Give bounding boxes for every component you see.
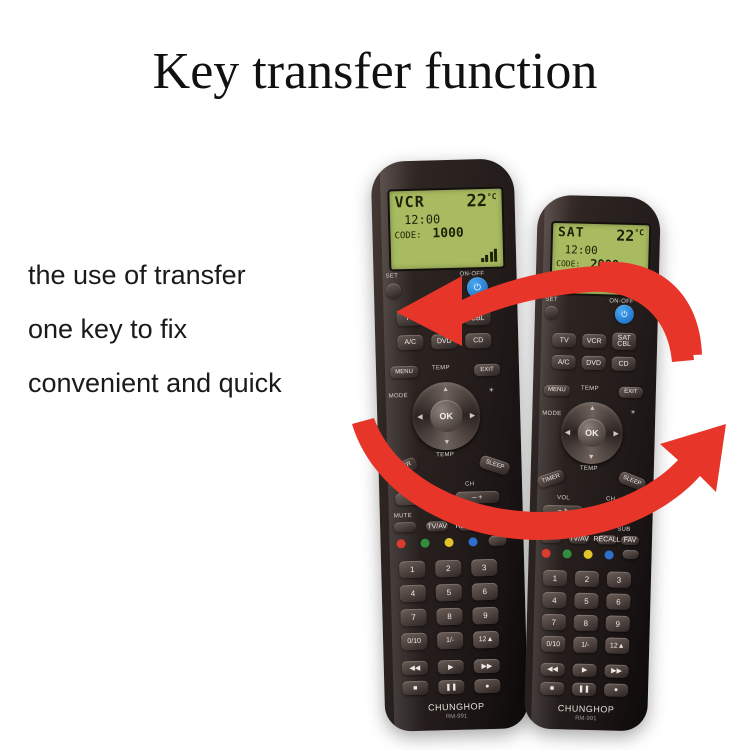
key-1-left[interactable]: 1 — [399, 561, 425, 579]
key-7-left[interactable]: 7 — [400, 609, 426, 627]
color-chip-red-right[interactable] — [542, 549, 551, 558]
dial-up-arrow-icon-right: ▲ — [589, 405, 596, 412]
transport-rewind-right[interactable]: ◀◀ — [540, 663, 564, 677]
key-1-right[interactable]: 1 — [543, 570, 567, 587]
lcd-mode-left: VCR — [394, 193, 425, 212]
dial-right-arrow-icon-right: ▶ — [613, 430, 619, 438]
model-label-right: RM-991 — [524, 714, 647, 723]
lcd-temperature-left: 22°C — [466, 191, 497, 212]
source-button-cd-right[interactable]: CD — [611, 356, 635, 371]
key-4-right[interactable]: 4 — [542, 592, 566, 609]
vol-label-right: VOL — [557, 495, 570, 501]
color-chip-blue-left[interactable] — [468, 537, 477, 546]
key-5-right[interactable]: 5 — [574, 593, 598, 610]
mute-button-right[interactable] — [541, 534, 561, 544]
mute-label-right: MUTE — [541, 525, 559, 531]
transport-play-left[interactable]: ▶ — [438, 660, 464, 675]
page-title: Key transfer function — [0, 42, 750, 101]
lcd-display-right: SAT 22°C 12:00 CODE: 2000 — [549, 221, 651, 298]
volume-rocker-right[interactable]: – + — [543, 505, 583, 517]
source-button-tv-right[interactable]: TV — [552, 333, 576, 348]
sub-label-right: SUB — [617, 527, 630, 533]
mute-button-left[interactable] — [394, 522, 416, 533]
source-button-sat-cbl-right[interactable]: SAT CBL — [612, 332, 636, 350]
navigation-dial-left[interactable]: OK ▲ ▼ ◀ ▶ — [411, 381, 481, 451]
color-chip-green-left[interactable] — [420, 539, 429, 548]
brightness-icon-right: ☀ — [630, 409, 636, 416]
volume-rocker-left[interactable]: – + — [395, 492, 439, 505]
channel-rocker-left[interactable]: – + — [455, 491, 499, 504]
key-8-left[interactable]: 8 — [436, 608, 462, 626]
key-9-left[interactable]: 9 — [472, 607, 498, 625]
mode-label-left: MODE — [389, 393, 408, 400]
lcd-code-label-left: CODE: — [394, 231, 421, 242]
key-3-left[interactable]: 3 — [471, 559, 497, 577]
lcd-temperature-right: 22°C — [616, 227, 644, 246]
key-2-left[interactable]: 2 — [435, 560, 461, 578]
ch-label-right: CH — [606, 496, 615, 502]
dial-right-arrow-icon-left: ▶ — [470, 411, 476, 419]
power-button-left[interactable]: ⏻ — [467, 277, 489, 299]
key-8-right[interactable]: 8 — [574, 615, 598, 632]
brightness-icon-left: ☀ — [488, 387, 494, 394]
set-button-right[interactable] — [545, 306, 558, 319]
set-button-left[interactable] — [386, 283, 401, 298]
key-0-10-right[interactable]: 0/10 — [541, 636, 565, 653]
transport-stop-left[interactable]: ■ — [402, 681, 428, 696]
remote-control-right: SAT 22°C 12:00 CODE: 2000 SET ON-OFF ⏻ T… — [524, 194, 661, 731]
extra-button-tvav-left[interactable]: TV/AV — [426, 521, 448, 532]
source-button-cd-left[interactable]: CD — [465, 333, 491, 349]
source-button-vcr-left[interactable]: VCR — [430, 310, 456, 326]
transport-pause-left[interactable]: ❚❚ — [438, 680, 464, 695]
lcd-code-value-left: 1000 — [432, 226, 464, 242]
extra-button-tvav-right[interactable]: TV/AV — [569, 534, 589, 544]
transport-fastforward-right[interactable]: ▶▶ — [604, 664, 628, 678]
source-button-dvd-right[interactable]: DVD — [581, 356, 605, 371]
source-button-vcr-right[interactable]: VCR — [582, 334, 606, 349]
temp-label-bottom-right: TEMP — [580, 466, 598, 472]
key-0-10-left[interactable]: 0/10 — [401, 633, 427, 651]
lcd-code-label-right: CODE: — [556, 259, 580, 269]
transport-pause-right[interactable]: ❚❚ — [572, 683, 596, 697]
exit-button-right[interactable]: EXIT — [619, 387, 643, 399]
temp-label-top-left: TEMP — [432, 365, 450, 371]
aux-button-right[interactable] — [623, 550, 639, 559]
caption-line-2: one key to fix — [28, 302, 358, 356]
transport-fastforward-left[interactable]: ▶▶ — [474, 659, 500, 674]
key-5-left[interactable]: 5 — [436, 584, 462, 602]
key-2-right[interactable]: 2 — [575, 571, 599, 588]
dial-left-arrow-icon-left: ◀ — [417, 413, 423, 421]
key-4-left[interactable]: 4 — [400, 585, 426, 603]
caption-line-1: the use of transfer — [28, 248, 358, 302]
key-1-dash-right[interactable]: 1/- — [573, 637, 597, 654]
source-button-tv-left[interactable]: TV — [396, 311, 422, 327]
mute-label-left: MUTE — [394, 513, 412, 519]
source-button-ac-right[interactable]: A/C — [551, 355, 575, 370]
key-7-right[interactable]: 7 — [542, 614, 566, 631]
color-chip-yellow-left[interactable] — [444, 538, 453, 547]
dial-down-arrow-icon-left: ▼ — [443, 439, 450, 446]
key-6-left[interactable]: 6 — [472, 583, 498, 601]
ch-label-left: CH — [465, 481, 474, 487]
caption-line-3: convenient and quick — [28, 356, 358, 410]
dial-down-arrow-icon-right: ▼ — [588, 454, 595, 461]
aux-button-left[interactable] — [488, 536, 506, 546]
lcd-signal-bars-left — [480, 249, 497, 262]
key-12-up-left[interactable]: 12▲ — [473, 631, 499, 649]
sleep-button-right[interactable]: SLEEP — [617, 471, 647, 492]
key-3-right[interactable]: 3 — [607, 571, 631, 588]
color-chip-red-left[interactable] — [396, 539, 405, 548]
menu-button-right[interactable]: MENU — [544, 385, 570, 397]
exit-button-left[interactable]: EXIT — [474, 364, 500, 377]
brand-label-right: CHUNGHOP — [524, 702, 647, 715]
extra-button-fav-right[interactable]: FAV — [621, 536, 639, 545]
color-chip-yellow-right[interactable] — [583, 550, 592, 559]
source-button-ac-left[interactable]: A/C — [397, 335, 423, 351]
color-chip-blue-right[interactable] — [604, 550, 613, 559]
lcd-signal-bars-right — [625, 277, 642, 290]
lcd-clock-right: 12:00 — [564, 243, 597, 257]
key-12-up-right[interactable]: 12▲ — [605, 637, 629, 654]
color-chip-green-right[interactable] — [562, 549, 571, 558]
ok-button-left[interactable]: OK — [430, 400, 462, 432]
key-6-right[interactable]: 6 — [606, 593, 630, 610]
navigation-dial-right[interactable]: OK ▲ ▼ ◀ ▶ — [560, 401, 624, 465]
dial-up-arrow-icon-left: ▲ — [442, 386, 449, 393]
dial-left-arrow-icon-right: ◀ — [565, 428, 571, 436]
onoff-label-left: ON-OFF — [459, 271, 484, 278]
set-label-left: SET — [385, 273, 398, 279]
source-button-dvd-left[interactable]: DVD — [431, 334, 457, 350]
key-9-right[interactable]: 9 — [606, 615, 630, 632]
source-button-sat-cbl-left[interactable]: SAT CBL — [464, 307, 490, 326]
model-label-left: RM-991 — [385, 712, 528, 722]
lcd-mode-right: SAT — [558, 225, 585, 241]
transport-rewind-left[interactable]: ◀◀ — [402, 661, 428, 676]
extra-button-recall-right[interactable]: RECALL — [597, 535, 617, 545]
menu-button-left[interactable]: MENU — [390, 366, 418, 379]
extra-button-fav-left[interactable]: FAV — [484, 520, 504, 531]
remote-control-left: VCR 22°C 12:00 CODE: 1000 SET ON-OFF ⏻ T… — [371, 158, 529, 732]
timer-button-left[interactable]: TIMER — [386, 456, 419, 479]
ok-button-right[interactable]: OK — [577, 418, 606, 447]
sleep-button-left[interactable]: SLEEP — [478, 454, 511, 476]
key-1-dash-left[interactable]: 1/- — [437, 632, 463, 650]
channel-rocker-right[interactable]: – + — [596, 506, 636, 518]
transport-play-right[interactable]: ▶ — [572, 664, 596, 678]
transport-stop-right[interactable]: ■ — [540, 682, 564, 696]
extra-button-recall-left[interactable]: RECALL — [458, 520, 480, 531]
transport-record-left[interactable]: ● — [474, 679, 500, 694]
mode-label-right: MODE — [542, 411, 561, 418]
temp-label-bottom-left: TEMP — [436, 452, 454, 458]
temp-label-top-right: TEMP — [581, 386, 599, 392]
vol-label-left: VOL — [411, 483, 424, 489]
sub-label-left: SUB — [480, 511, 493, 517]
transport-record-right[interactable]: ● — [604, 683, 628, 697]
lcd-code-value-right: 2000 — [590, 257, 619, 272]
caption-block: the use of transfer one key to fix conve… — [28, 248, 358, 410]
lcd-display-left: VCR 22°C 12:00 CODE: 1000 — [387, 187, 505, 272]
lcd-clock-left: 12:00 — [404, 212, 440, 227]
power-button-right[interactable]: ⏻ — [615, 305, 634, 324]
timer-button-right[interactable]: TIMER — [536, 469, 565, 489]
set-label-right: SET — [545, 297, 558, 303]
